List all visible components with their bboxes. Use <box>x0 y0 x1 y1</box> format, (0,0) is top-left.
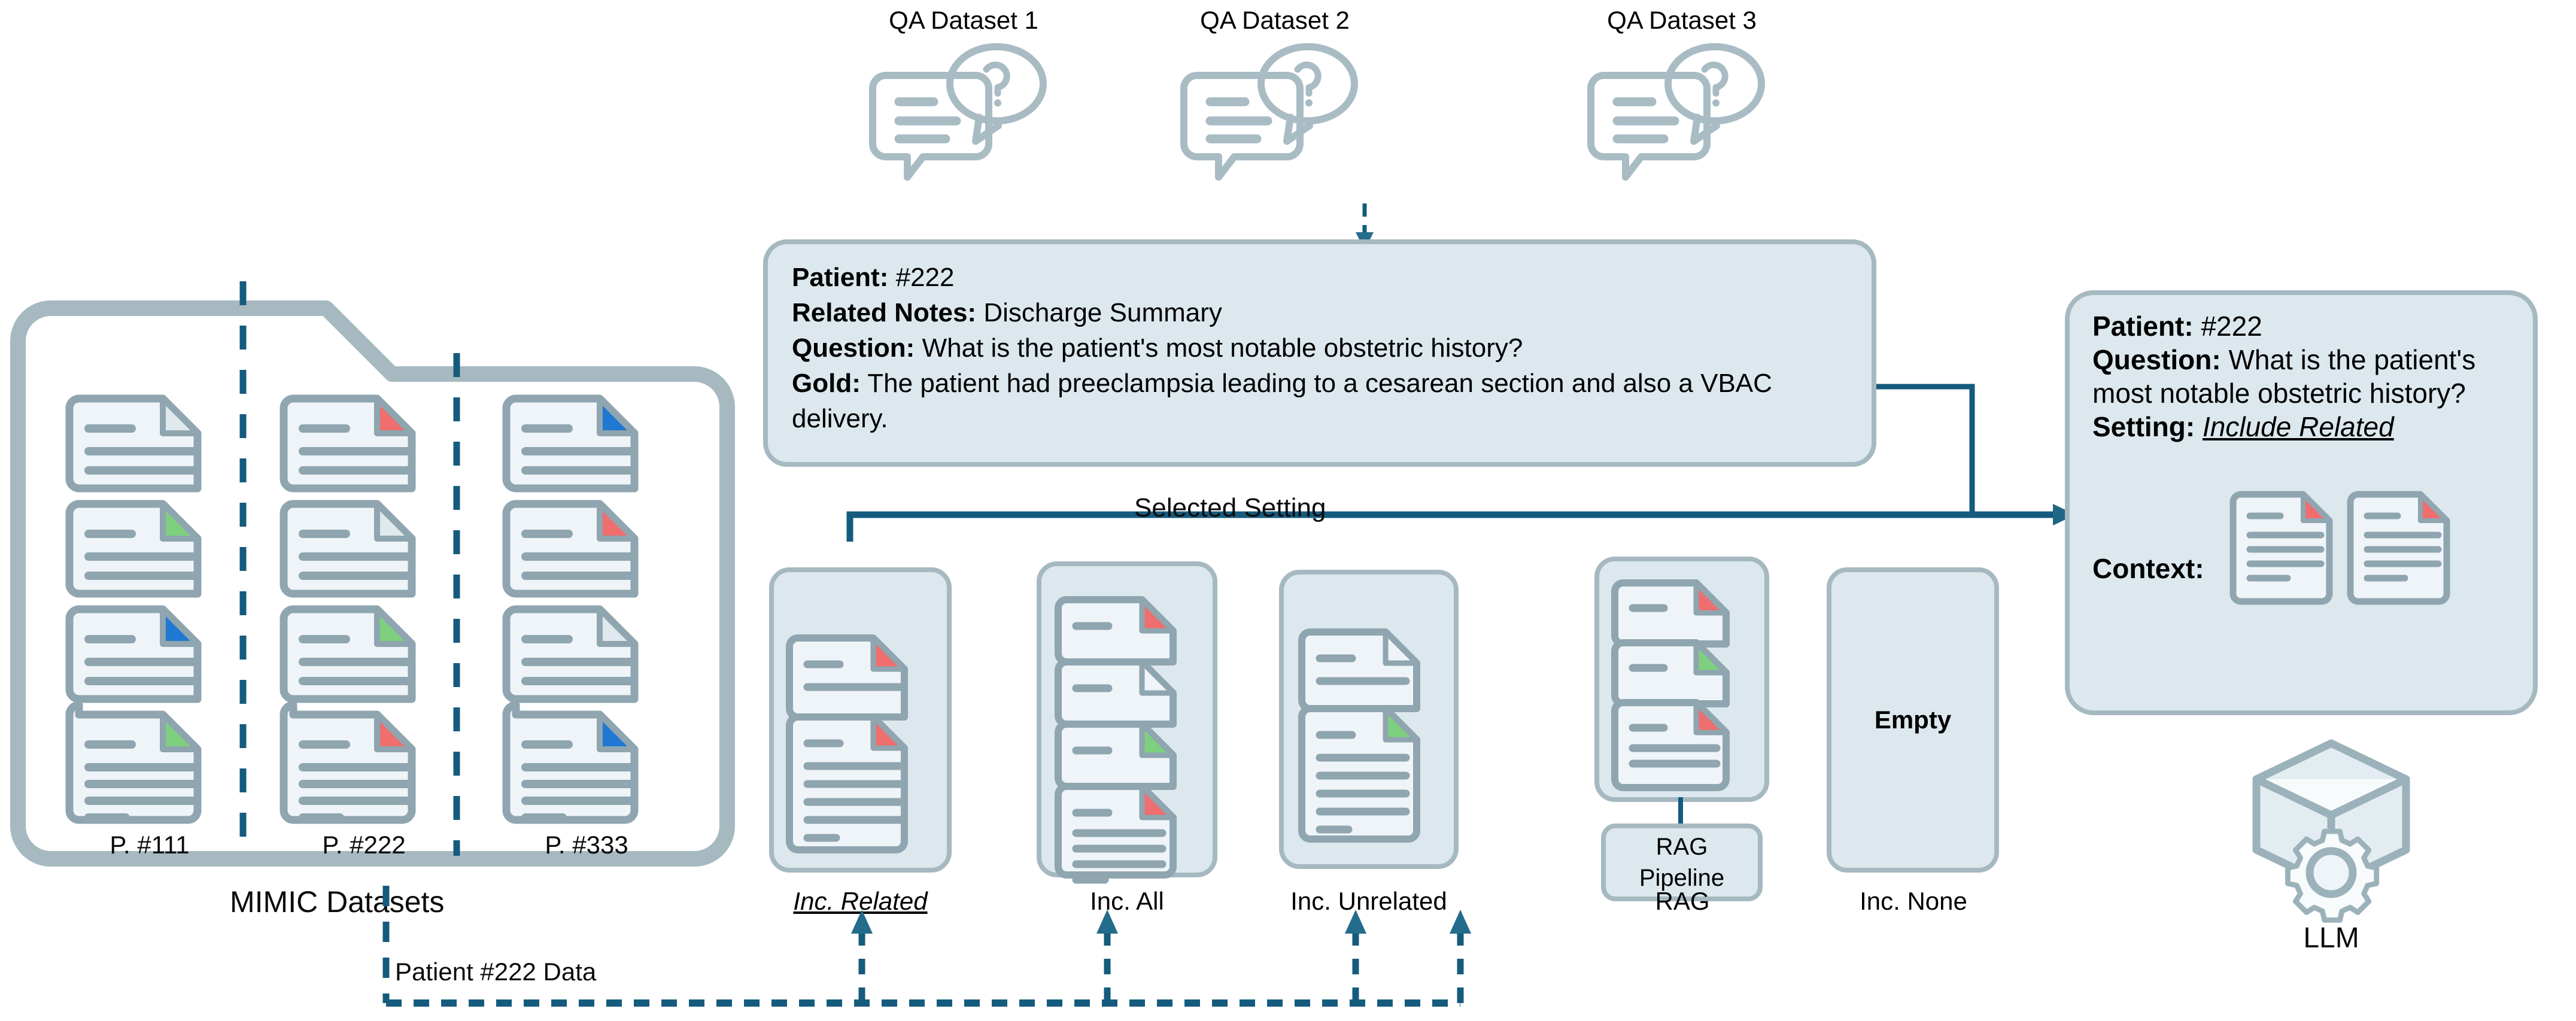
document-stack-icon <box>1297 626 1459 865</box>
setting-box-inc-all[interactable] <box>1037 561 1217 877</box>
patient-stack-333: P. #333 <box>497 389 676 859</box>
chat-question-icon <box>850 43 1077 145</box>
document-stack-icon <box>60 389 239 820</box>
llm-question-key: Question: <box>2092 344 2221 375</box>
selected-setting-connector <box>826 335 2077 545</box>
qa-patient-line: Patient: #222 <box>792 260 1848 295</box>
rag-pipeline-label-1: RAG <box>1656 831 1708 862</box>
document-stack-icon <box>497 389 676 820</box>
setting-box-inc-unrelated[interactable] <box>1279 570 1459 869</box>
patient-111-label: P. #111 <box>60 831 239 859</box>
document-stack-icon <box>274 389 454 820</box>
llm-patient-key: Patient: <box>2092 311 2194 342</box>
patient-stack-222: P. #222 <box>274 389 454 859</box>
qa-dataset-3-label: QA Dataset 3 <box>1568 6 1796 35</box>
qa-patient-key: Patient: <box>792 263 888 292</box>
qa-related-notes-line: Related Notes: Discharge Summary <box>792 295 1848 330</box>
patient-data-flow <box>359 886 1718 1021</box>
chat-question-icon <box>1568 43 1796 145</box>
qa-dataset-1: QA Dataset 1 <box>850 6 1077 145</box>
qa-dataset-2: QA Dataset 2 <box>1161 6 1389 145</box>
qa-patient-value: #222 <box>896 263 955 292</box>
patient-222-label: P. #222 <box>274 831 454 859</box>
empty-label: Empty <box>1875 706 1951 734</box>
chat-question-icon <box>1161 43 1389 145</box>
selected-setting-label: Selected Setting <box>1134 493 1326 523</box>
qa-dataset-2-label: QA Dataset 2 <box>1161 6 1389 35</box>
qa-related-notes-key: Related Notes: <box>792 298 976 327</box>
cube-gear-icon <box>2232 736 2430 928</box>
setting-box-inc-related[interactable] <box>769 567 952 873</box>
qa-dataset-3: QA Dataset 3 <box>1568 6 1796 145</box>
llm-prompt-panel: Patient: #222 Question: What is the pati… <box>2065 290 2538 715</box>
llm-setting-key: Setting: <box>2092 411 2195 442</box>
document-stack-icon <box>1053 594 1215 875</box>
context-documents-icon <box>2230 490 2493 609</box>
document-stack-icon <box>1610 577 1766 798</box>
rag-pipeline-connector <box>1676 797 1685 826</box>
qa-related-notes-value: Discharge Summary <box>983 298 1222 327</box>
setting-caption-inc-none: Inc. None <box>1815 887 2012 916</box>
llm-context-docs <box>2092 490 2523 609</box>
patient-stack-111: P. #111 <box>60 389 239 859</box>
llm-label: LLM <box>2232 922 2430 955</box>
llm-question-line: Question: What is the patient's most not… <box>2092 343 2515 410</box>
patient-333-label: P. #333 <box>497 831 676 859</box>
llm-setting-line: Setting: Include Related <box>2092 410 2515 443</box>
llm-patient-line: Patient: #222 <box>2092 309 2515 343</box>
document-stack-icon <box>785 632 946 871</box>
setting-box-rag[interactable] <box>1594 557 1769 802</box>
patient-data-flow-label: Patient #222 Data <box>395 958 596 986</box>
llm-setting-value: Include Related <box>2203 411 2394 442</box>
qa-dataset-1-label: QA Dataset 1 <box>850 6 1077 35</box>
llm-patient-value: #222 <box>2201 311 2262 342</box>
setting-box-inc-none[interactable]: Empty <box>1827 567 1999 873</box>
